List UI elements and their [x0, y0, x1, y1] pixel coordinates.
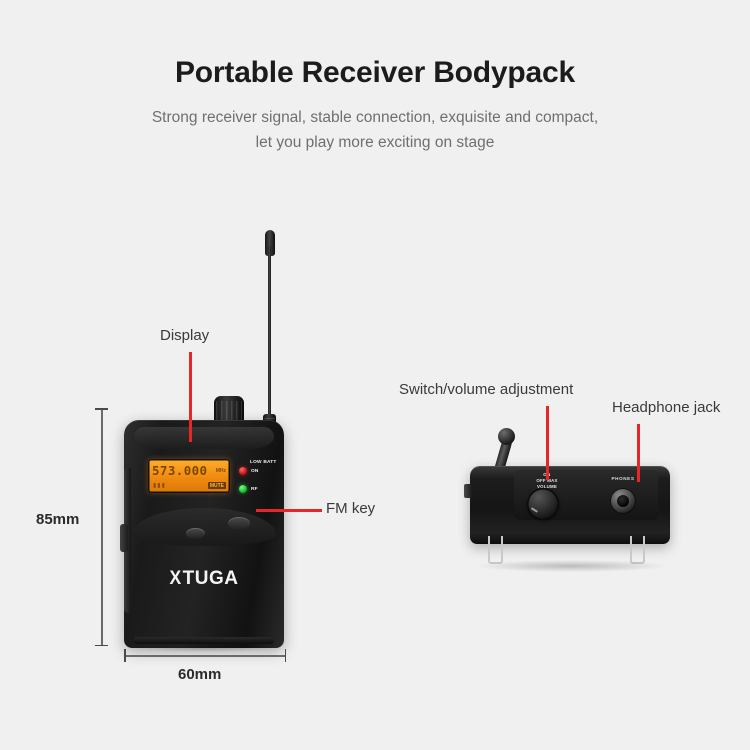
brand-x-mark: X [170, 568, 182, 590]
led-dot-on [239, 467, 247, 475]
callout-headphone-jack-leader [637, 424, 640, 482]
dimension-label-height: 85mm [36, 511, 79, 528]
dimension-label-width: 60mm [178, 666, 221, 683]
callout-switch-volume-leader [546, 406, 549, 480]
top-panel-side-nub [464, 484, 472, 498]
set-button[interactable] [186, 528, 205, 539]
callout-headphone-jack-label: Headphone jack [612, 399, 720, 416]
led-dot-rf [239, 485, 247, 493]
receiver-top-view: ON OFF MAX VOLUME PHONES [462, 424, 682, 574]
dimension-cap-width-left [124, 649, 126, 662]
body-top-bevel [134, 427, 274, 449]
led-label-low-batt: LOW BATT [250, 460, 277, 465]
header: Portable Receiver Bodypack Strong receiv… [0, 56, 750, 155]
fm-key-button[interactable] [228, 517, 250, 530]
page-subtitle: Strong receiver signal, stable connectio… [0, 105, 750, 155]
subtitle-line-1: Strong receiver signal, stable connectio… [152, 109, 598, 126]
top-view-antenna-ball [498, 428, 515, 445]
button-band [132, 508, 276, 546]
dimension-line-width [124, 655, 286, 657]
volume-knob[interactable] [527, 488, 559, 520]
dimension-line-height [101, 408, 103, 646]
callout-display-leader [189, 352, 192, 442]
page-title: Portable Receiver Bodypack [0, 56, 750, 91]
callout-switch-volume-label: Switch/volume adjustment [399, 381, 573, 398]
lcd-signal-bars: ▮▮▮ [153, 482, 166, 489]
dimension-cap-height-bottom [95, 645, 108, 647]
brand-logo: XTUGA [124, 568, 284, 590]
led-indicator-group: LOW BATT ON RF [238, 460, 284, 496]
lcd-display: 573.000 MHz ▮▮▮ MUTE [148, 459, 230, 493]
lcd-frequency: 573.000 [152, 463, 207, 478]
top-view-shadow [476, 560, 666, 572]
lcd-unit-label: MHz [216, 468, 226, 474]
subtitle-line-2: let you play more exciting on stage [256, 134, 495, 151]
callout-fm-key-leader [256, 509, 322, 512]
led-label-on: ON [251, 469, 259, 474]
dimension-cap-height-top [95, 408, 108, 410]
dimension-cap-width-right [285, 649, 287, 662]
brand-wordmark: TUGA [183, 568, 239, 589]
antenna-rod [268, 246, 271, 424]
receiver-body: 573.000 MHz ▮▮▮ MUTE LOW BATT ON RF XTUG… [124, 420, 284, 648]
callout-fm-key-label: FM key [326, 500, 375, 517]
front-view-shadow [132, 642, 278, 652]
lcd-mute-tag: MUTE [208, 482, 226, 489]
receiver-front-view: 573.000 MHz ▮▮▮ MUTE LOW BATT ON RF XTUG… [118, 228, 293, 648]
callout-display-label: Display [160, 327, 209, 344]
infographic-canvas: Portable Receiver Bodypack Strong receiv… [0, 0, 750, 750]
led-label-rf: RF [251, 487, 258, 492]
headphone-jack-hole[interactable] [617, 495, 629, 507]
belt-clip-left [120, 524, 128, 552]
